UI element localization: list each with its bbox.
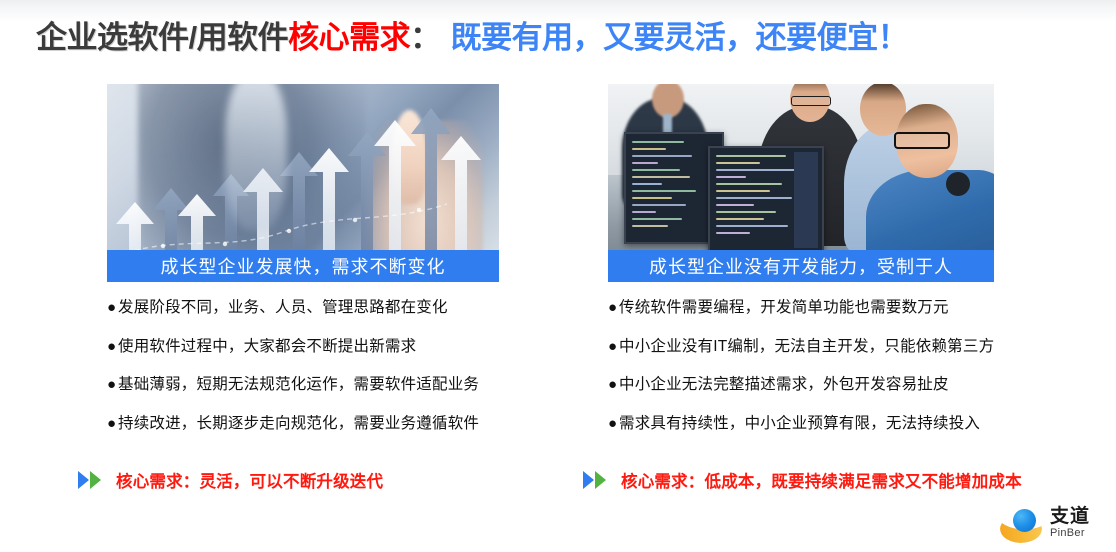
logo-mark-icon: [1000, 507, 1044, 545]
slide-canvas: 企业选软件/用软件 核心需求 ： 既要有用，又要灵活，还要便宜！: [0, 0, 1116, 552]
bullet-dot-icon: ●: [608, 377, 619, 392]
logo-circle-shape: [1013, 509, 1036, 532]
bullet-dot-icon: ●: [608, 416, 619, 431]
bullet-dot-icon: ●: [107, 377, 118, 392]
column-left: 成长型企业发展快，需求不断变化 ●发展阶段不同，业务、人员、管理思路都在变化 ●…: [107, 84, 499, 454]
photo-caption-right: 成长型企业没有开发能力，受制于人: [608, 250, 994, 282]
brand-logo: 支道 PinBer: [998, 503, 1106, 549]
photo-developers: 成长型企业没有开发能力，受制于人: [608, 84, 994, 282]
list-item-text: 持续改进，长期逐步走向规范化，需要业务遵循软件: [118, 415, 479, 432]
list-item-text: 需求具有持续性，中小企业预算有限，无法持续投入: [619, 415, 980, 432]
list-item: ●使用软件过程中，大家都会不断提出新需求: [107, 339, 499, 355]
bullet-dot-icon: ●: [107, 339, 118, 354]
logo-text-block: 支道 PinBer: [1050, 507, 1090, 540]
logo-name-en: PinBer: [1050, 527, 1090, 540]
list-item: ●需求具有持续性，中小企业预算有限，无法持续投入: [608, 416, 994, 432]
list-item-text: 传统软件需要编程，开发简单功能也需要数万元: [619, 299, 949, 316]
double-chevron-right-icon: [78, 471, 108, 489]
list-item: ●基础薄弱，短期无法规范化运作，需要软件适配业务: [107, 377, 499, 393]
logo-name-cn: 支道: [1050, 507, 1090, 527]
glasses-icon: [894, 132, 950, 149]
headphones-icon: [946, 172, 970, 196]
conclusion-right-text: 核心需求：低成本，既要持续满足需求又不能增加成本: [621, 468, 1022, 492]
bullet-dot-icon: ●: [608, 339, 619, 354]
title-colon: ：: [410, 22, 451, 53]
list-item-text: 发展阶段不同，业务、人员、管理思路都在变化: [118, 299, 448, 316]
conclusion-right: 核心需求：低成本，既要持续满足需求又不能增加成本: [583, 468, 1022, 492]
list-item: ●传统软件需要编程，开发简单功能也需要数万元: [608, 300, 994, 316]
double-chevron-right-icon: [583, 471, 613, 489]
bullet-dot-icon: ●: [608, 300, 619, 315]
bullet-list-left: ●发展阶段不同，业务、人员、管理思路都在变化 ●使用软件过程中，大家都会不断提出…: [107, 300, 499, 431]
title-part-prefix: 企业选软件/用软件: [36, 22, 288, 53]
photo-growth-arrows: 成长型企业发展快，需求不断变化: [107, 84, 499, 282]
conclusion-left-text: 核心需求：灵活，可以不断升级迭代: [116, 468, 383, 492]
glasses-icon: [791, 96, 831, 106]
list-item-text: 中小企业没有IT编制，无法自主开发，只能依赖第三方: [619, 338, 994, 355]
column-right: 成长型企业没有开发能力，受制于人 ●传统软件需要编程，开发简单功能也需要数万元 …: [608, 84, 994, 454]
title-part-highlight: 核心需求: [288, 22, 410, 53]
list-item-text: 基础薄弱，短期无法规范化运作，需要软件适配业务: [118, 376, 479, 393]
conclusion-left: 核心需求：灵活，可以不断升级迭代: [78, 468, 383, 492]
list-item: ●持续改进，长期逐步走向规范化，需要业务遵循软件: [107, 416, 499, 432]
bullet-dot-icon: ●: [107, 300, 118, 315]
photo-caption-left: 成长型企业发展快，需求不断变化: [107, 250, 499, 282]
list-item-text: 使用软件过程中，大家都会不断提出新需求: [118, 338, 416, 355]
list-item: ●中小企业没有IT编制，无法自主开发，只能依赖第三方: [608, 339, 994, 355]
page-title: 企业选软件/用软件 核心需求 ： 既要有用，又要灵活，还要便宜！: [36, 14, 908, 60]
monitor-right: [708, 146, 824, 258]
bullet-list-right: ●传统软件需要编程，开发简单功能也需要数万元 ●中小企业没有IT编制，无法自主开…: [608, 300, 994, 431]
list-item: ●中小企业无法完整描述需求，外包开发容易扯皮: [608, 377, 994, 393]
bullet-dot-icon: ●: [107, 416, 118, 431]
list-item-text: 中小企业无法完整描述需求，外包开发容易扯皮: [619, 376, 949, 393]
list-item: ●发展阶段不同，业务、人员、管理思路都在变化: [107, 300, 499, 316]
title-part-tagline: 既要有用，又要灵活，还要便宜！: [451, 22, 909, 53]
